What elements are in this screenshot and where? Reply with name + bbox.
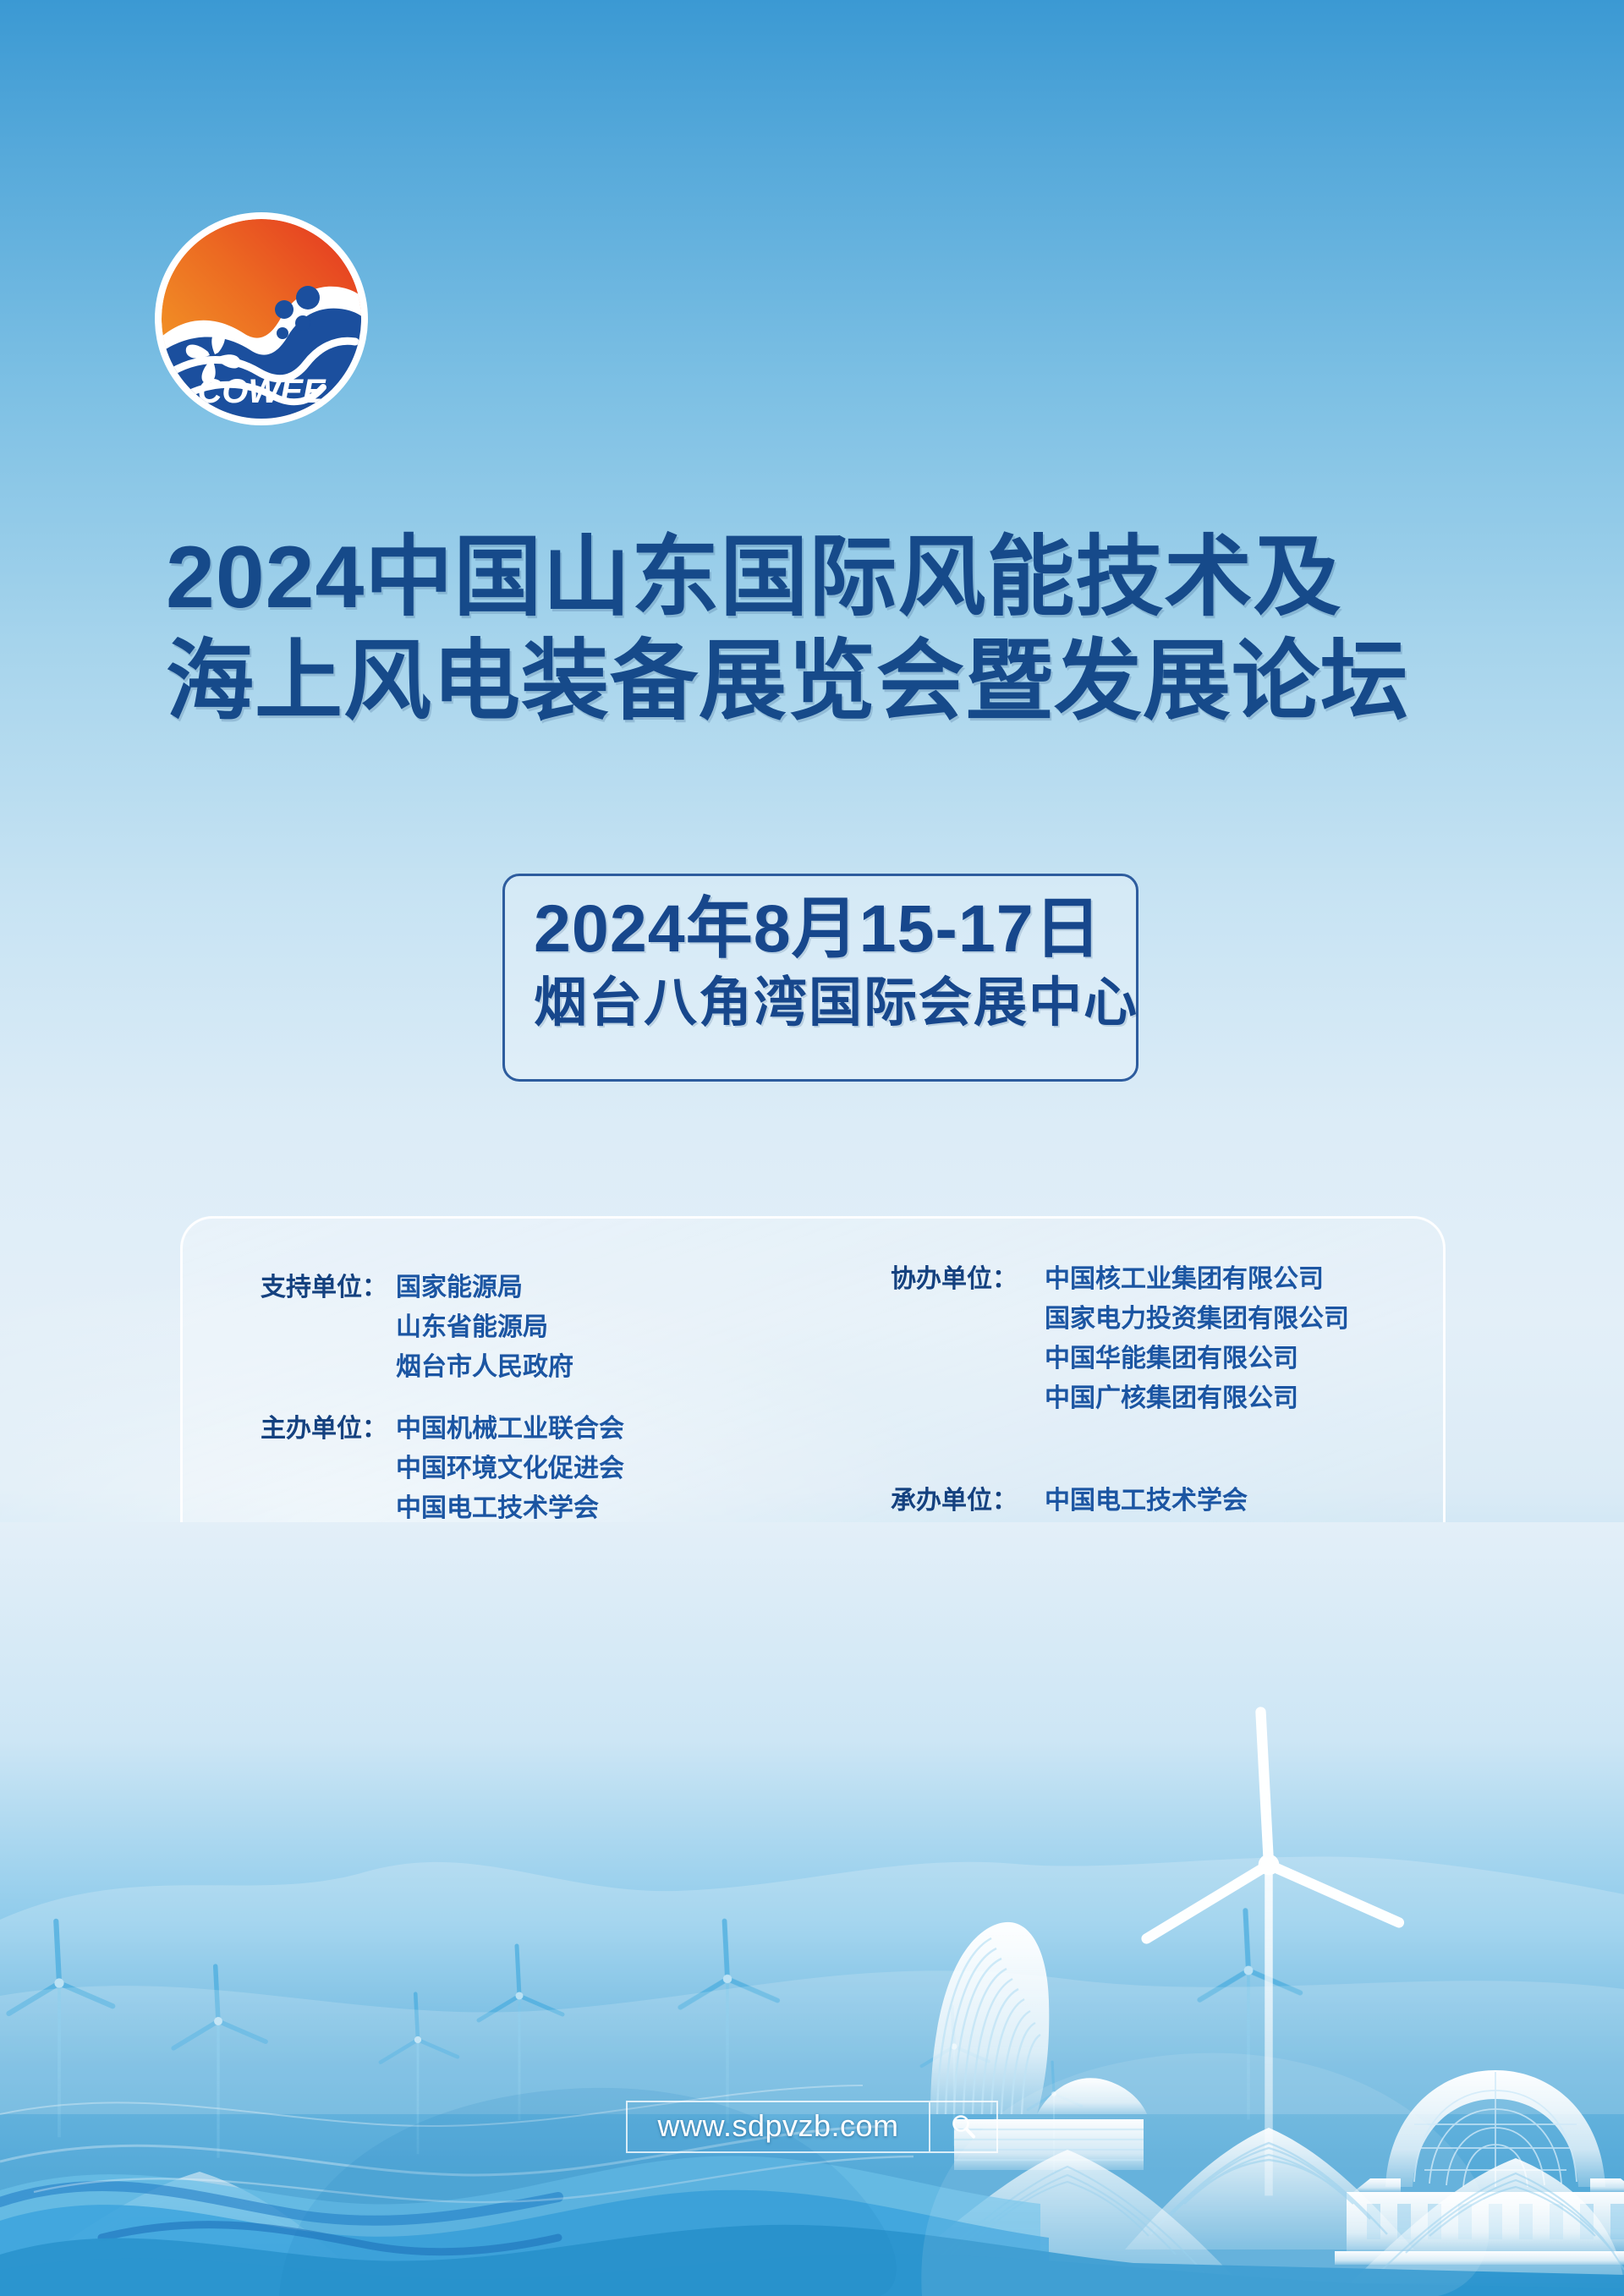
logo-wordmark: COWEE	[197, 373, 326, 410]
list-item: 烟台市人民政府	[396, 1347, 823, 1387]
list-item: 中国广核集团有限公司	[1045, 1378, 1443, 1418]
event-venue: 烟台八角湾国际会展中心	[534, 977, 1136, 1030]
list-item: 国家能源局	[396, 1268, 823, 1307]
list-item: 国家电力投资集团有限公司	[1045, 1299, 1443, 1339]
scenery-illustration	[0, 1522, 1624, 2296]
list-item: 中国华能集团有限公司	[1045, 1339, 1443, 1378]
search-button[interactable]	[930, 2102, 996, 2151]
website-url[interactable]: www.sdpvzb.com	[628, 2102, 930, 2151]
title-line-1: 2024中国山东国际风能技术及	[166, 526, 1485, 630]
event-dates: 2024年8月15-17日	[534, 895, 1136, 962]
poster-root: COWEE 2024中国山东国际风能技术及 海上风电装备展览会暨发展论坛 202…	[0, 0, 1624, 2296]
organizer-group-support: 支持单位： 国家能源局 山东省能源局 烟台市人民政府	[261, 1268, 823, 1387]
organizer-label-support: 支持单位：	[261, 1268, 396, 1387]
cowee-logo: COWEE	[152, 210, 370, 428]
organizer-items-support: 国家能源局 山东省能源局 烟台市人民政府	[396, 1268, 823, 1387]
organizer-label-coorganizer: 协办单位：	[891, 1259, 1045, 1418]
organizer-group-coorganizer: 协办单位： 中国核工业集团有限公司 国家电力投资集团有限公司 中国华能集团有限公…	[891, 1259, 1443, 1418]
list-item: 中国电工技术学会	[1045, 1481, 1443, 1521]
list-item: 山东省能源局	[396, 1307, 823, 1347]
list-item: 中国核工业集团有限公司	[1045, 1259, 1443, 1299]
date-venue-box: 2024年8月15-17日 烟台八角湾国际会展中心	[502, 874, 1138, 1082]
list-item: 中国机械工业联合会	[396, 1409, 823, 1449]
poster-title: 2024中国山东国际风能技术及 海上风电装备展览会暨发展论坛	[166, 526, 1485, 733]
website-search-bar[interactable]: www.sdpvzb.com	[626, 2101, 998, 2153]
list-item: 中国环境文化促进会	[396, 1449, 823, 1488]
organizer-items-coorganizer: 中国核工业集团有限公司 国家电力投资集团有限公司 中国华能集团有限公司 中国广核…	[1045, 1259, 1443, 1418]
title-line-2: 海上风电装备展览会暨发展论坛	[166, 630, 1485, 734]
search-icon	[948, 2112, 979, 2142]
